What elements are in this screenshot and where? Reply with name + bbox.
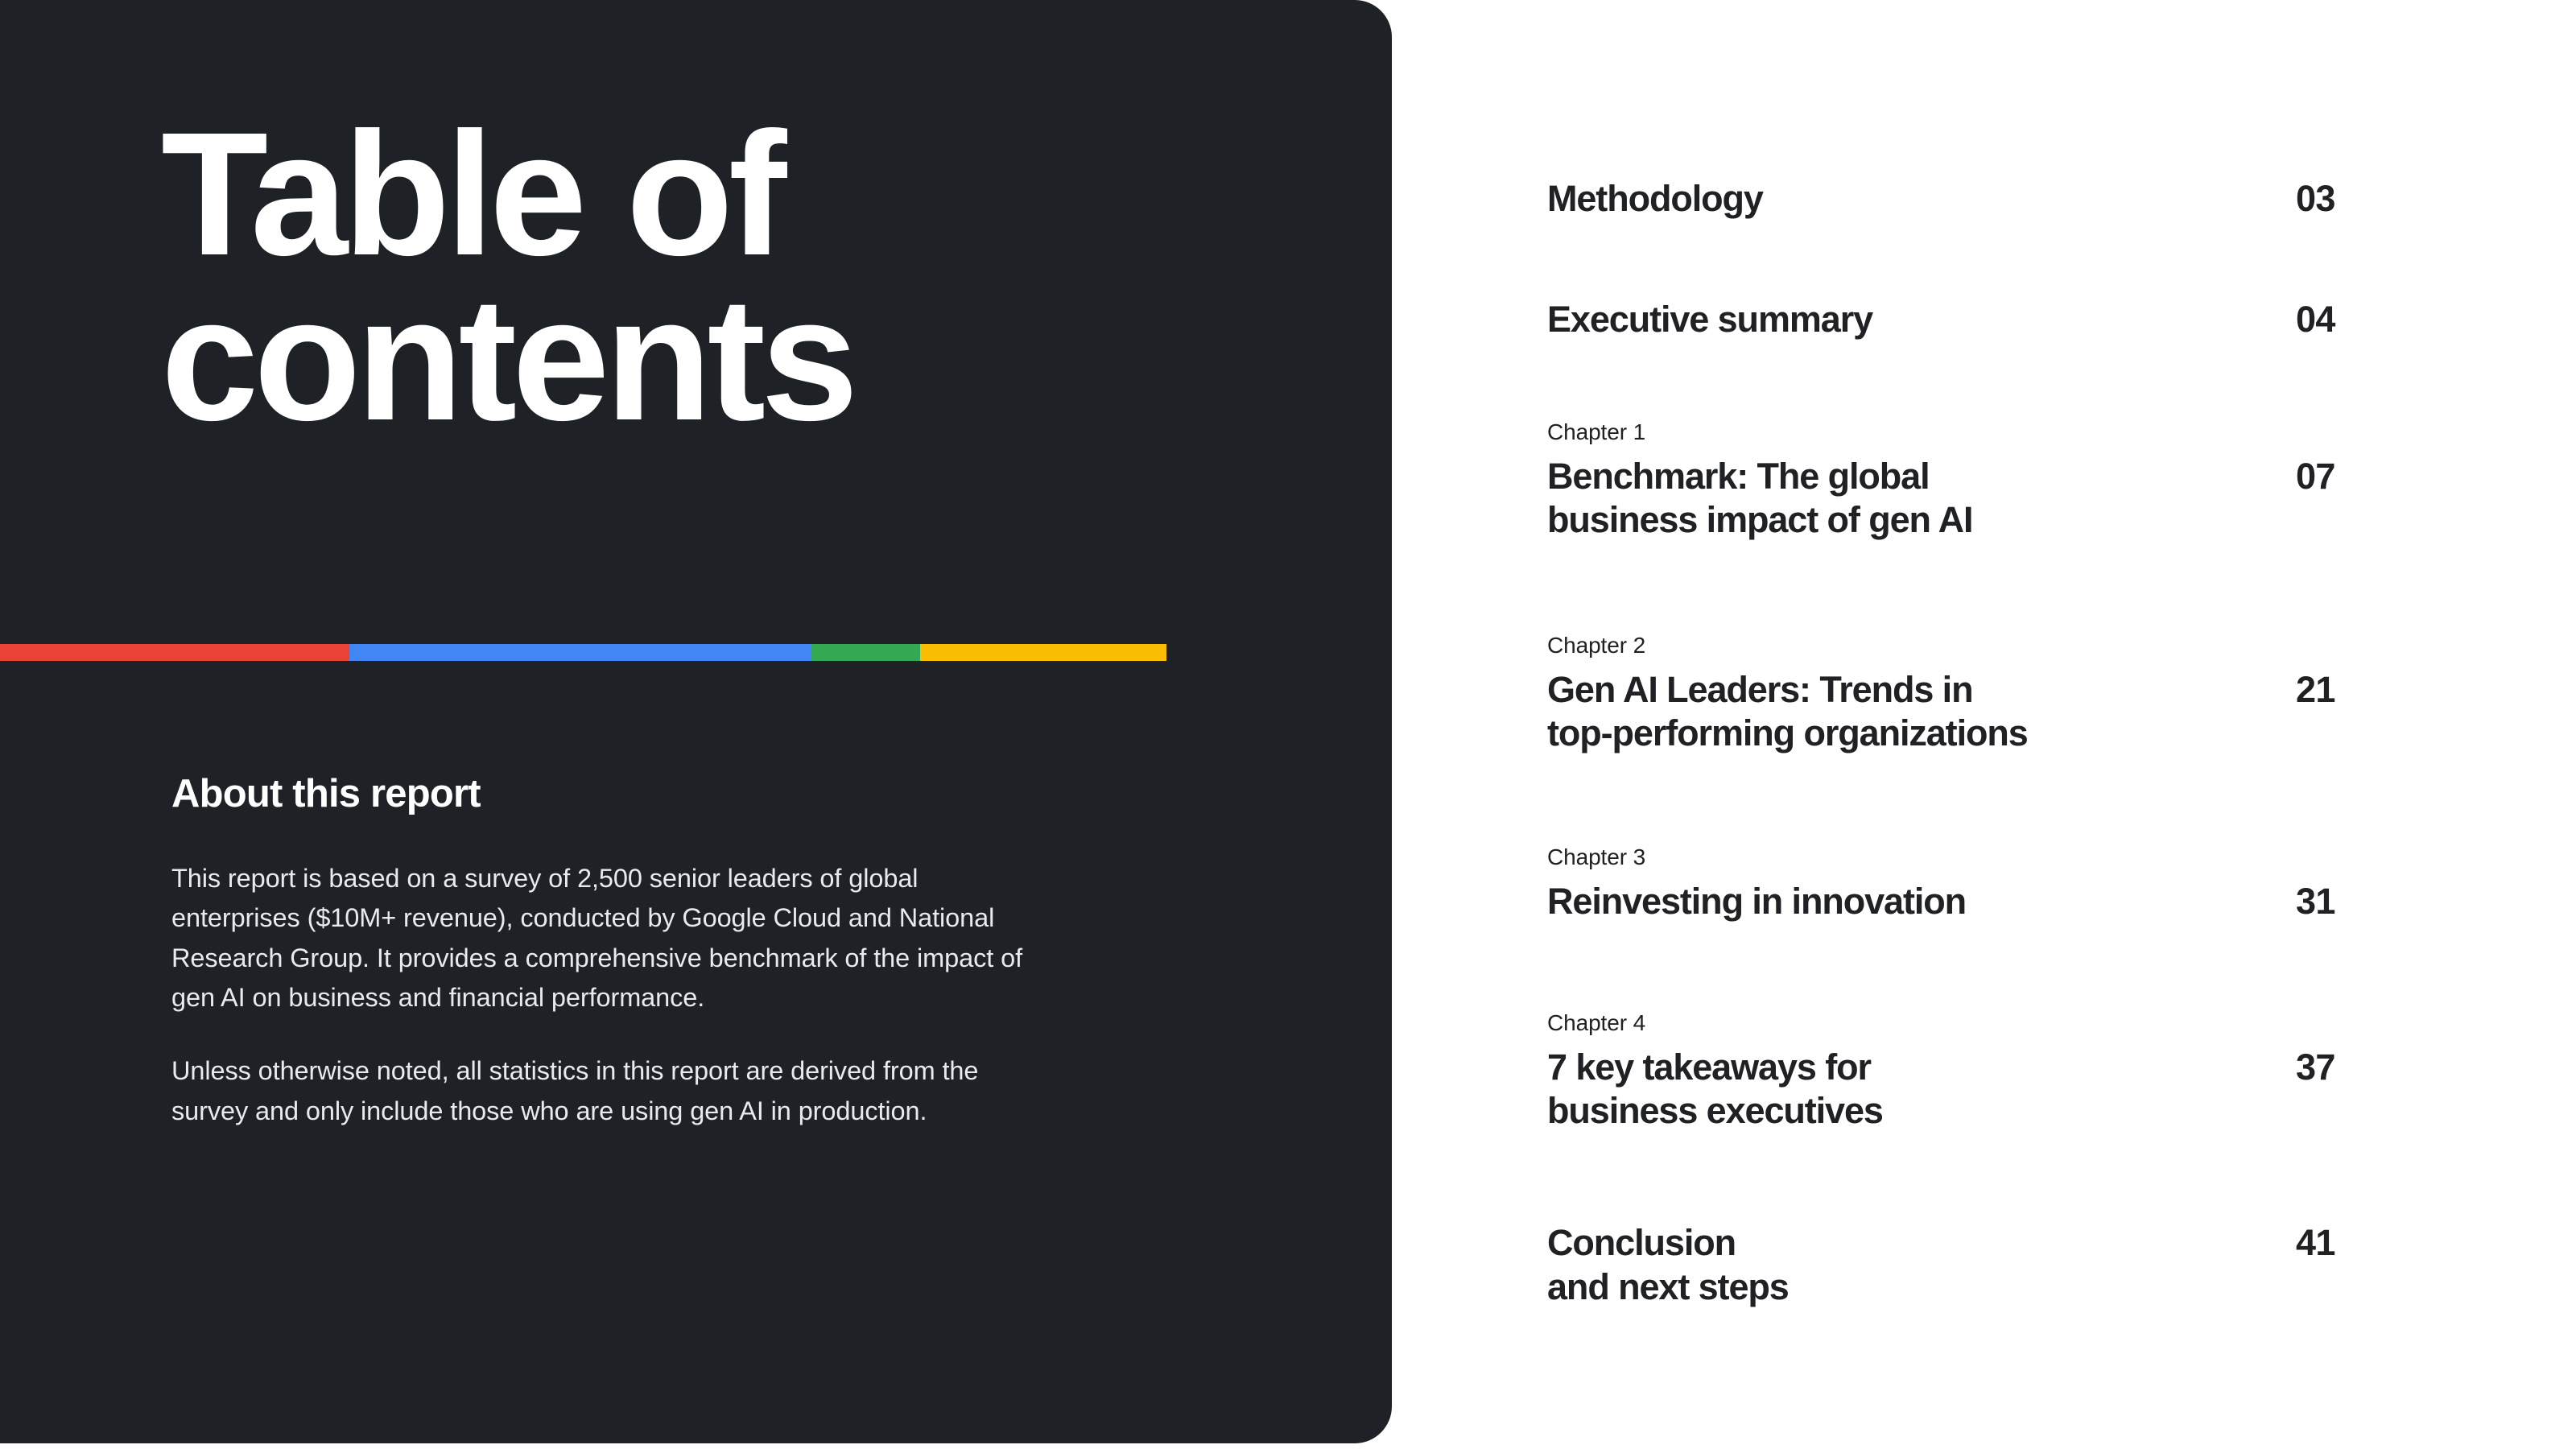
toc-page-number: 03 xyxy=(2296,177,2425,221)
toc-page-number: 21 xyxy=(2296,668,2425,712)
toc-row[interactable]: Conclusion and next steps41 xyxy=(1547,1221,2433,1310)
toc-chapter-label: Chapter 4 xyxy=(1547,1009,2433,1037)
toc-entry[interactable]: Chapter 47 key takeaways for business ex… xyxy=(1547,1009,2433,1133)
yellow-segment xyxy=(920,644,1166,661)
google-color-bar xyxy=(0,644,1166,661)
toc-entry[interactable]: Chapter 3Reinvesting in innovation31 xyxy=(1547,844,2433,923)
toc-entry[interactable]: Chapter 1Benchmark: The global business … xyxy=(1547,419,2433,543)
toc-entry-title[interactable]: 7 key takeaways for business executives xyxy=(1547,1046,2296,1134)
about-paragraphs: This report is based on a survey of 2,50… xyxy=(171,859,1049,1131)
dark-panel: Table of contents About this report This… xyxy=(0,0,1392,1443)
toc-entry-title[interactable]: Executive summary xyxy=(1547,298,2296,342)
toc-page-number: 31 xyxy=(2296,880,2425,924)
toc-entry-title[interactable]: Reinvesting in innovation xyxy=(1547,880,2296,924)
toc-chapter-label: Chapter 2 xyxy=(1547,632,2433,659)
about-heading: About this report xyxy=(171,773,1049,816)
page-title: Table of contents xyxy=(161,113,1288,443)
about-paragraph: Unless otherwise noted, all statistics i… xyxy=(171,1051,1049,1131)
toc-entry[interactable]: Chapter 2Gen AI Leaders: Trends in top-p… xyxy=(1547,632,2433,756)
toc-entry-title[interactable]: Benchmark: The global business impact of… xyxy=(1547,455,2296,543)
toc-row[interactable]: Methodology03 xyxy=(1547,177,2433,221)
toc-chapter-label: Chapter 3 xyxy=(1547,844,2433,871)
green-segment xyxy=(811,644,920,661)
toc-entry-title[interactable]: Gen AI Leaders: Trends in top-performing… xyxy=(1547,668,2296,757)
toc-row[interactable]: 7 key takeaways for business executives3… xyxy=(1547,1046,2433,1134)
toc-row[interactable]: Gen AI Leaders: Trends in top-performing… xyxy=(1547,668,2433,757)
toc-chapter-label: Chapter 1 xyxy=(1547,419,2433,446)
toc-entry-title[interactable]: Methodology xyxy=(1547,177,2296,221)
blue-segment xyxy=(349,644,811,661)
toc-entry[interactable]: Methodology03 xyxy=(1547,177,2433,221)
toc-entry[interactable]: Executive summary04 xyxy=(1547,298,2433,342)
about-this-report-section: About this report This report is based o… xyxy=(171,773,1049,1131)
red-segment xyxy=(0,644,349,661)
toc-list: Methodology03Executive summary04Chapter … xyxy=(1547,0,2576,1449)
toc-row[interactable]: Reinvesting in innovation31 xyxy=(1547,880,2433,924)
toc-entry-title[interactable]: Conclusion and next steps xyxy=(1547,1221,2296,1310)
about-paragraph: This report is based on a survey of 2,50… xyxy=(171,859,1049,1018)
toc-row[interactable]: Executive summary04 xyxy=(1547,298,2433,342)
toc-page-number: 37 xyxy=(2296,1046,2425,1090)
toc-page-number: 41 xyxy=(2296,1221,2425,1265)
toc-page-number: 07 xyxy=(2296,455,2425,499)
toc-page-number: 04 xyxy=(2296,298,2425,342)
table-of-contents-page: Table of contents About this report This… xyxy=(0,0,2576,1449)
toc-entry[interactable]: Conclusion and next steps41 xyxy=(1547,1221,2433,1310)
toc-row[interactable]: Benchmark: The global business impact of… xyxy=(1547,455,2433,543)
